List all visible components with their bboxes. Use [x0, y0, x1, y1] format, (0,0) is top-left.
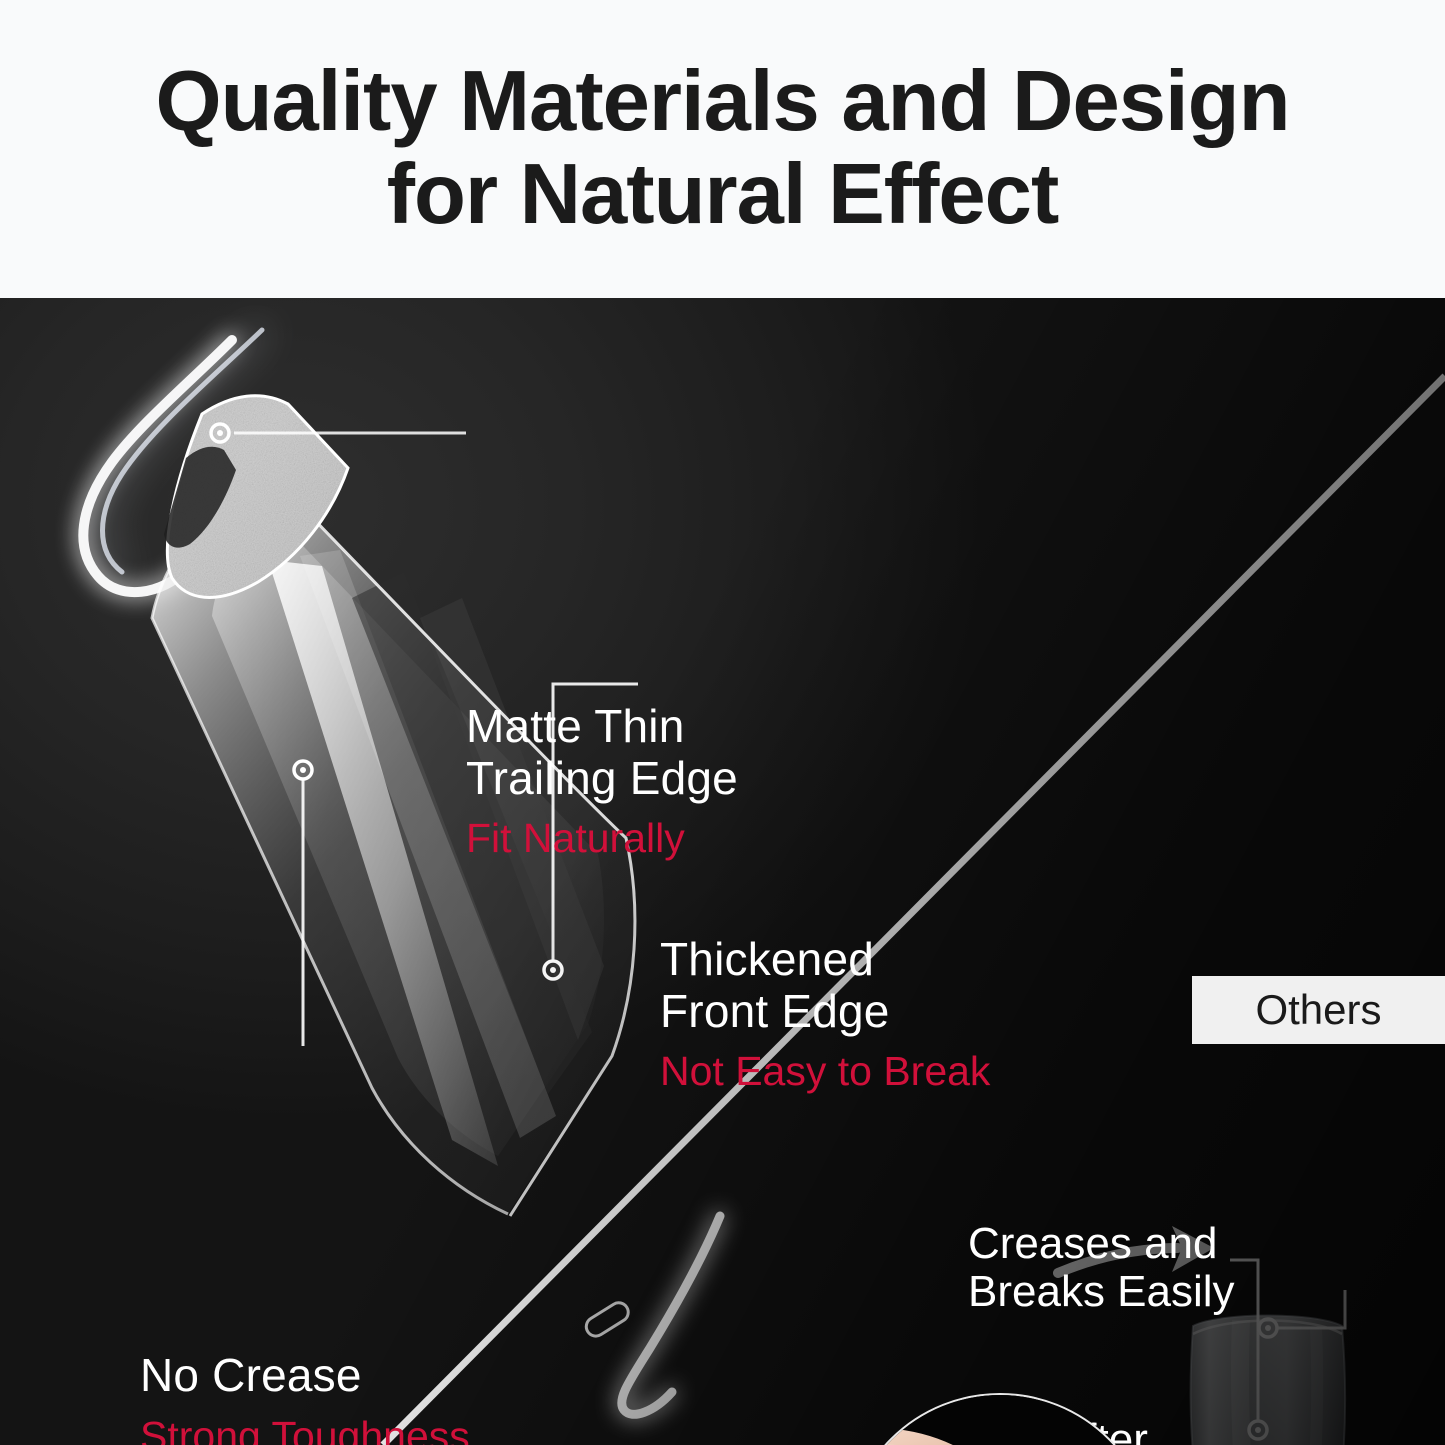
photo-inset-bending-tip [845, 1393, 1155, 1445]
callout-matte-thin-trailing-edge: Matte Thin Trailing Edge Fit Naturally [466, 701, 738, 863]
comparison-stage: Matte Thin Trailing Edge Fit Naturally T… [0, 298, 1445, 1445]
others-badge: Others [1192, 976, 1445, 1044]
infographic-page: Quality Materials and Design for Natural… [0, 0, 1445, 1445]
callout-crease-subtitle: Strong Toughness [140, 1412, 470, 1445]
page-header: Quality Materials and Design for Natural… [0, 0, 1445, 298]
callout-matte-title-1: Matte Thin [466, 701, 738, 753]
page-title-line1: Quality Materials and Design [156, 59, 1290, 146]
others-badge-label: Others [1255, 986, 1381, 1034]
callout-matte-title-2: Trailing Edge [466, 753, 738, 805]
left-product-illustration [83, 330, 720, 1414]
callout-breaks-title-1: Creases and [968, 1220, 1235, 1268]
callout-breaks-title-2: Breaks Easily [968, 1268, 1235, 1316]
callout-thick-subtitle: Not Easy to Break [660, 1047, 990, 1096]
callout-thick-title-1: Thickened [660, 934, 990, 986]
callout-thick-title-2: Front Edge [660, 986, 990, 1038]
photo-inset-artwork [847, 1395, 1153, 1445]
callout-no-crease: No Crease Strong Toughness [140, 1350, 470, 1445]
callout-thickened-front-edge: Thickened Front Edge Not Easy to Break [660, 934, 990, 1096]
callout-creases-breaks-easily: Creases and Breaks Easily [968, 1220, 1235, 1317]
callout-matte-subtitle: Fit Naturally [466, 814, 738, 863]
callout-crease-title-1: No Crease [140, 1350, 470, 1402]
page-title-line2: for Natural Effect [387, 152, 1059, 239]
